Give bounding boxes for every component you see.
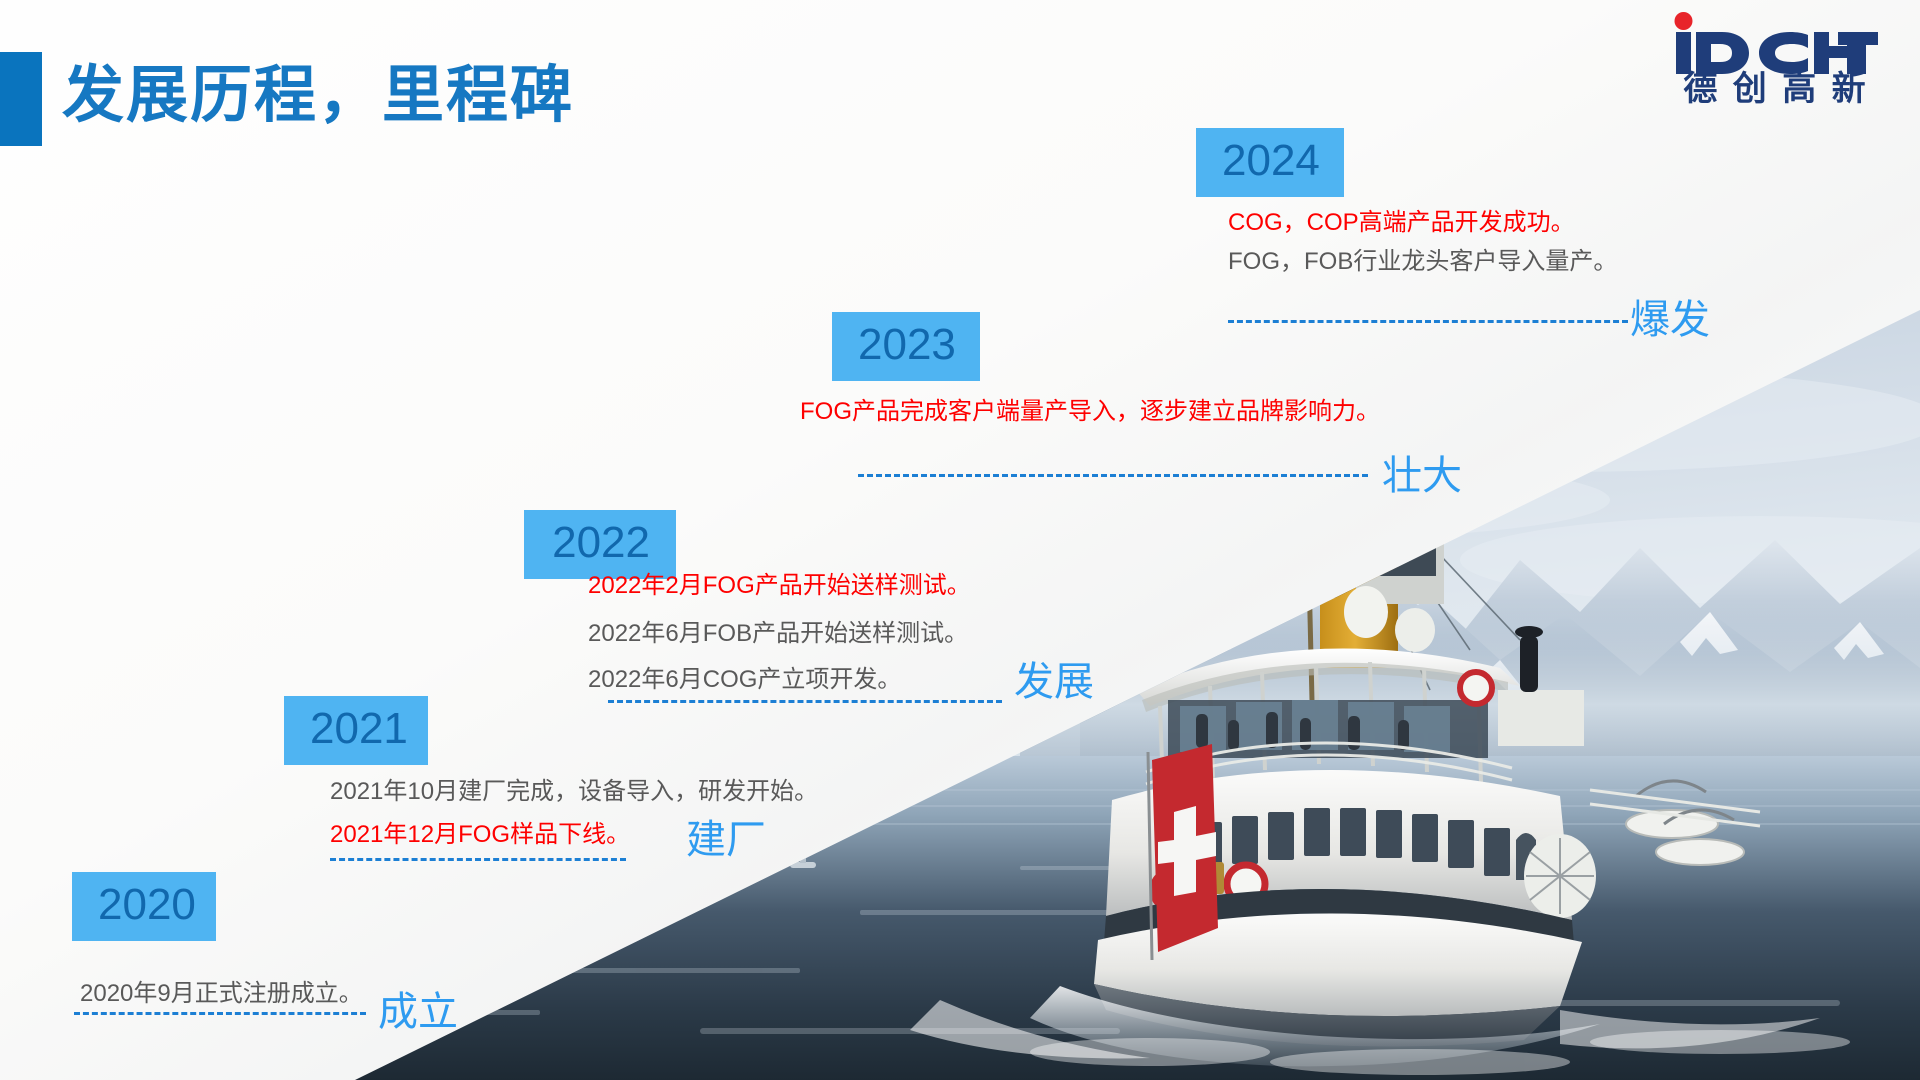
milestone-2022-line-3: 2022年6月COG产立项开发。	[588, 668, 901, 692]
stage-label-2021: 建厂	[686, 820, 766, 860]
milestone-2020-line-1: 2020年9月正式注册成立。	[80, 982, 363, 1006]
stage-label-2023: 壮大	[1382, 456, 1462, 496]
page-title: 发展历程，里程碑	[62, 44, 574, 134]
milestone-2022-line-1: 2022年2月FOG产品开始送样测试。	[588, 574, 971, 598]
milestone-2021-line-1: 2021年10月建厂完成，设备导入，研发开始。	[330, 780, 818, 804]
year-badge-2022: 2022	[524, 510, 676, 579]
year-label: 2022	[552, 518, 650, 567]
milestone-2024-line-2: FOG，FOB行业龙头客户导入量产。	[1228, 250, 1617, 274]
year-badge-2023: 2023	[832, 312, 980, 381]
title-accent-bar	[0, 52, 42, 146]
steamboat-photo	[0, 0, 1920, 1080]
year-label: 2021	[310, 704, 408, 753]
company-logo: 德 创 高 新	[1672, 8, 1880, 104]
svg-text:德 创 高 新: 德 创 高 新	[1683, 70, 1868, 104]
stage-label-2022: 发展	[1014, 662, 1094, 702]
year-badge-2021: 2021	[284, 696, 428, 765]
slide-canvas: 发展历程，里程碑 德 创 高 新 2020 2020年9月正式注册成立。 成立	[0, 0, 1920, 1080]
year-label: 2020	[98, 880, 196, 929]
dash-rule-2022	[608, 700, 1002, 703]
year-label: 2023	[858, 320, 956, 369]
dash-rule-2020	[74, 1012, 366, 1015]
stage-label-2024: 爆发	[1630, 300, 1710, 340]
milestone-2024-line-1: COG，COP高端产品开发成功。	[1228, 211, 1575, 235]
dash-rule-2023	[858, 474, 1368, 477]
milestone-2022-line-2: 2022年6月FOB产品开始送样测试。	[588, 622, 968, 646]
dash-rule-2024	[1228, 320, 1628, 323]
stage-label-2020: 成立	[378, 992, 458, 1032]
milestone-2021-line-2: 2021年12月FOG样品下线。	[330, 823, 630, 847]
year-badge-2020: 2020	[72, 872, 216, 941]
year-label: 2024	[1222, 136, 1320, 185]
dash-rule-2021	[330, 858, 626, 861]
year-badge-2024: 2024	[1196, 128, 1344, 197]
milestone-2023-line-1: FOG产品完成客户端量产导入，逐步建立品牌影响力。	[800, 400, 1380, 424]
